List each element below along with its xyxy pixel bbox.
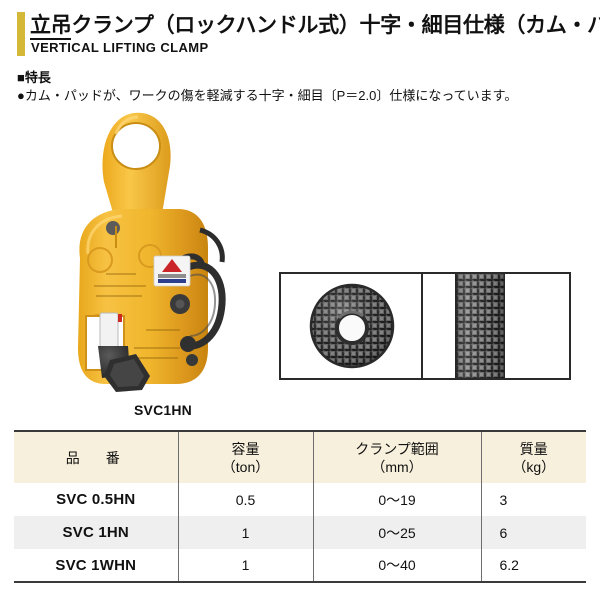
- features-section: ■特長 ●カム・パッドが、ワークの傷を軽減する十字・細目〔P＝2.0〕仕様になっ…: [17, 70, 587, 104]
- table-row: SVC 1HN 1 0〜25 6: [14, 516, 586, 549]
- table-row: SVC 1WHN 1 0〜40 6.2: [14, 549, 586, 582]
- features-heading: ■特長: [17, 70, 587, 85]
- column-header-model: 品 番: [14, 431, 178, 483]
- cell-model: SVC 0.5HN: [14, 483, 178, 516]
- cell-model: SVC 1HN: [14, 516, 178, 549]
- product-caption: SVC1HN: [58, 402, 268, 418]
- cam-pad-face-illustration: [281, 274, 423, 378]
- vertical-lifting-clamp-illustration: [58, 108, 268, 400]
- cell-capacity: 0.5: [178, 483, 313, 516]
- detail-photo-panel: [279, 272, 571, 380]
- cam-pad-texture-photo: [423, 274, 569, 378]
- table-row: SVC 0.5HN 0.5 0〜19 3: [14, 483, 586, 516]
- cell-clamp-range: 0〜19: [313, 483, 481, 516]
- column-header-capacity: 容量 （ton）: [178, 431, 313, 483]
- product-photo: [58, 108, 268, 400]
- column-header-mass: 質量 （kg）: [481, 431, 586, 483]
- page-subtitle: VERTICAL LIFTING CLAMP: [31, 40, 209, 55]
- cell-mass: 6.2: [481, 549, 586, 582]
- table-header-row: 品 番 容量 （ton） クランプ範囲 （mm） 質量 （kg）: [14, 431, 586, 483]
- cam-pad-face-photo: [281, 274, 423, 378]
- header-accent-bar: [17, 12, 25, 56]
- cell-capacity: 1: [178, 516, 313, 549]
- cell-mass: 3: [481, 483, 586, 516]
- cam-pad-texture-illustration: [423, 274, 569, 378]
- page-title-emphasis: 立吊: [30, 14, 71, 40]
- column-header-clamp-range: クランプ範囲 （mm）: [313, 431, 481, 483]
- cell-clamp-range: 0〜25: [313, 516, 481, 549]
- warning-label: [154, 256, 190, 286]
- cell-clamp-range: 0〜40: [313, 549, 481, 582]
- cell-model: SVC 1WHN: [14, 549, 178, 582]
- cell-capacity: 1: [178, 549, 313, 582]
- page-title-rest: クランプ（ロックハンドル式）十字・細目仕様（カム・パッド）: [71, 14, 600, 37]
- page-title: 立吊クランプ（ロックハンドル式）十字・細目仕様（カム・パッド）: [30, 9, 600, 39]
- features-bullet-item: ●カム・パッドが、ワークの傷を軽減する十字・細目〔P＝2.0〕仕様になっています…: [17, 88, 587, 104]
- cell-mass: 6: [481, 516, 586, 549]
- specification-table: 品 番 容量 （ton） クランプ範囲 （mm） 質量 （kg） SVC 0.5…: [14, 430, 586, 583]
- page-header: 立吊クランプ（ロックハンドル式）十字・細目仕様（カム・パッド） VERTICAL…: [0, 0, 600, 62]
